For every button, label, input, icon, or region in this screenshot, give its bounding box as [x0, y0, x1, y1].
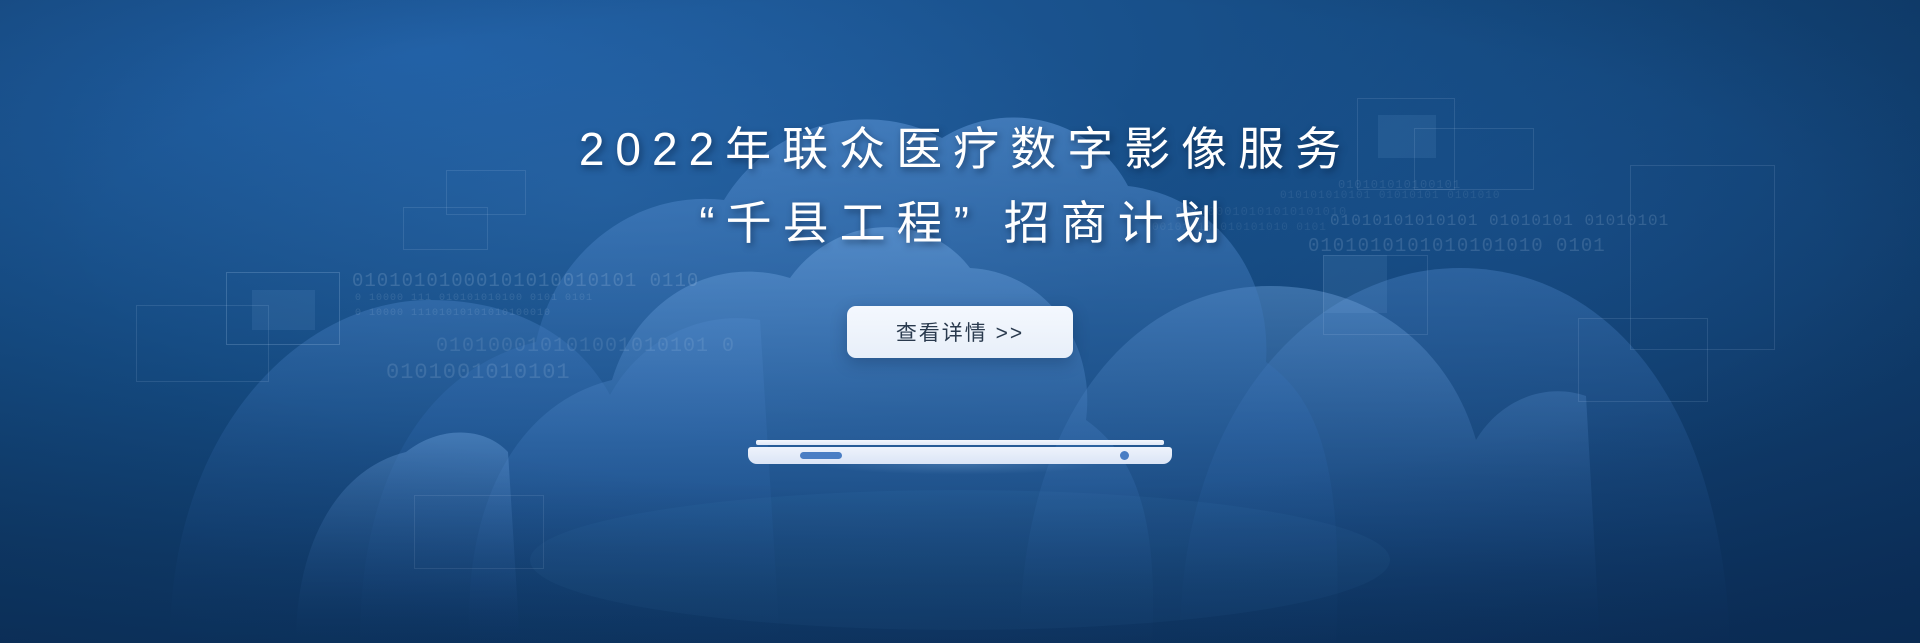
title-line-2: “千县工程” 招商计划 — [568, 186, 1352, 260]
banner-content: 2022年联众医疗数字影像服务 “千县工程” 招商计划 查看详情 >> — [0, 0, 1920, 643]
title-line-1: 2022年联众医疗数字影像服务 — [568, 112, 1352, 186]
cta-container: 查看详情 >> — [847, 306, 1073, 358]
device-shadow — [772, 464, 1148, 478]
device-screen-edge — [756, 440, 1164, 445]
device-notch-icon — [800, 452, 842, 459]
device-illustration — [748, 440, 1172, 472]
view-details-button[interactable]: 查看详情 >> — [847, 306, 1073, 358]
promo-banner: 01010101000101010010101 0110 0 10000 111… — [0, 0, 1920, 643]
banner-title: 2022年联众医疗数字影像服务 “千县工程” 招商计划 — [568, 112, 1352, 260]
device-camera-dot-icon — [1120, 451, 1129, 460]
